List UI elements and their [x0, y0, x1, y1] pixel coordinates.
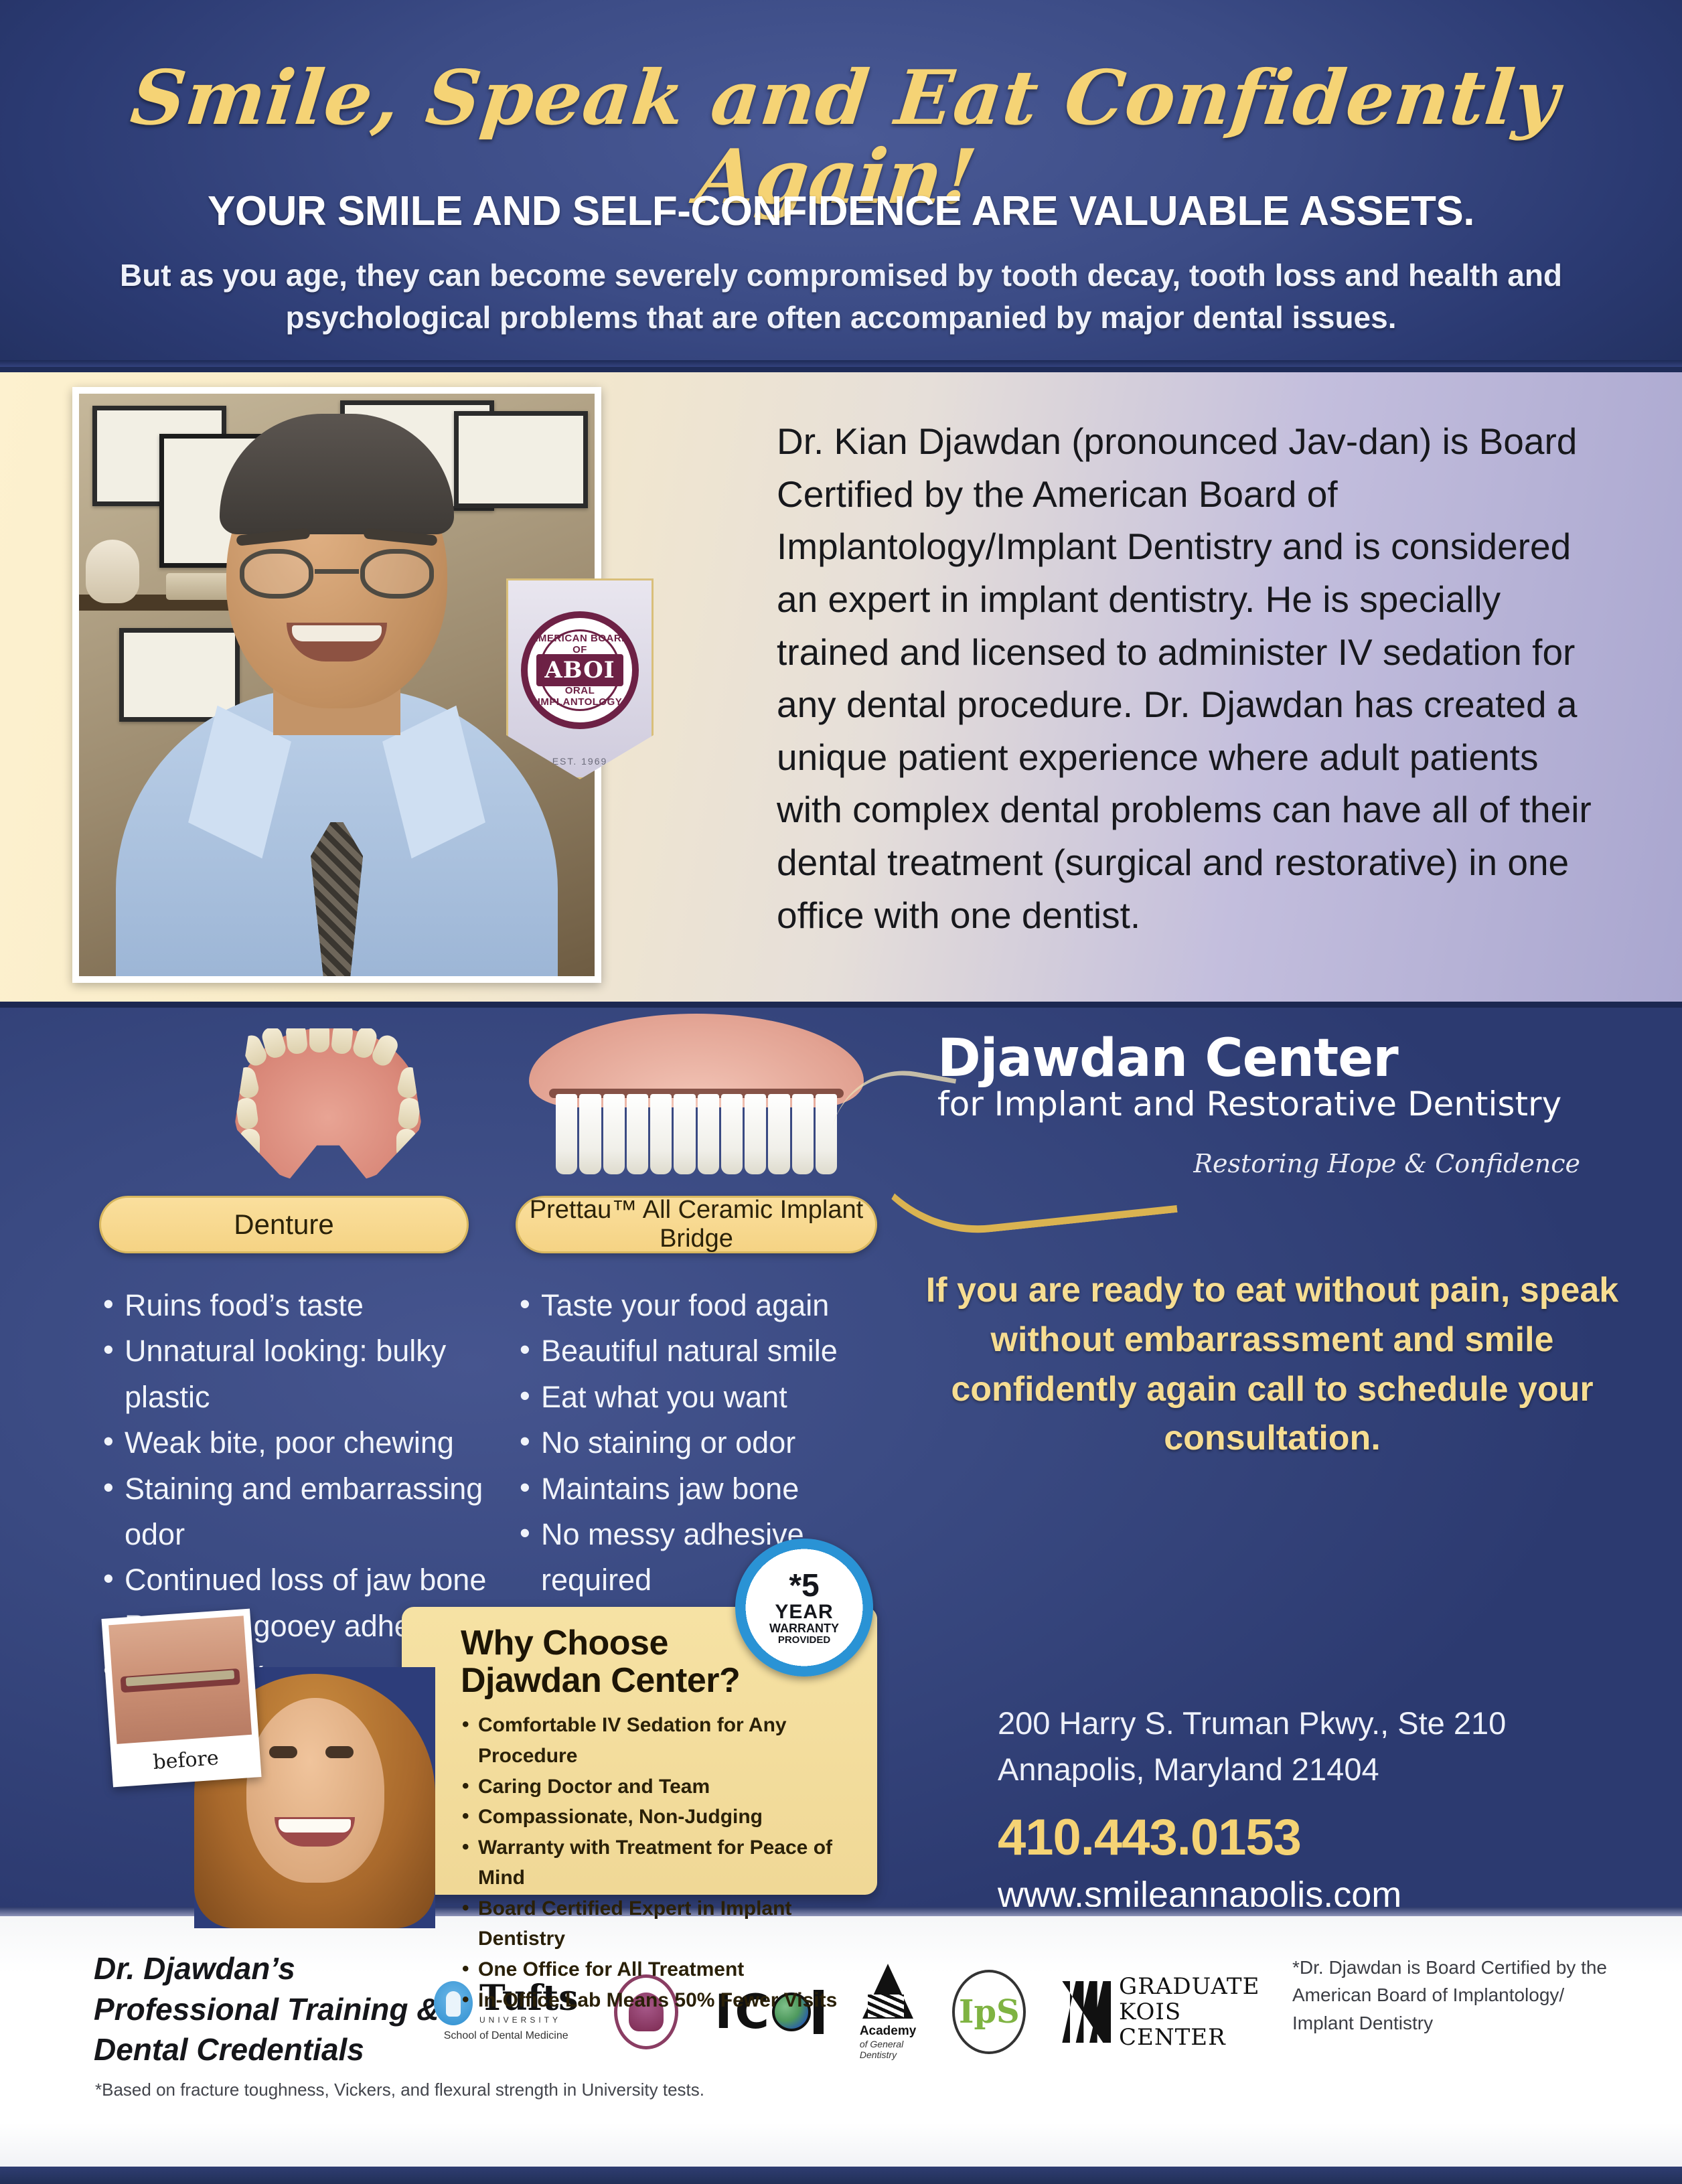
logo-academy-general-dentistry: Academy of General Dentistry: [860, 1964, 917, 2060]
list-item: Eat what you want: [516, 1375, 911, 1420]
address-line-2: Annapolis, Maryland 21404: [998, 1747, 1667, 1793]
warranty-badge: *5 YEAR WARRANTY PROVIDED: [735, 1539, 873, 1676]
denture-title-pill: Denture: [99, 1196, 469, 1253]
list-item: Staining and embarrassing odor: [99, 1466, 487, 1558]
phone-number[interactable]: 410.443.0153: [998, 1810, 1667, 1866]
list-item: Unnatural looking: bulky plastic: [99, 1328, 487, 1420]
doctor-photo-frame: AMERICAN BOARD OF ABOI ORAL IMPLANTOLOGY…: [72, 387, 601, 983]
bridge-title-pill: Prettau™ All Ceramic Implant Bridge: [516, 1196, 877, 1253]
certification-note: *Dr. Djawdan is Board Certified by the A…: [1292, 1954, 1607, 2037]
logo-ips: IpS: [952, 1970, 1026, 2054]
list-item: Board Certified Expert in Implant Dentis…: [461, 1893, 857, 1954]
aboi-seal-inner: AMERICAN BOARD OF ABOI ORAL IMPLANTOLOGY: [528, 618, 632, 722]
call-to-action-text: If you are ready to eat without pain, sp…: [924, 1266, 1620, 1464]
brand-name: Djawdan Center: [937, 1028, 1607, 1089]
fine-print-disclaimer: *Based on fracture toughness, Vickers, a…: [95, 2080, 1166, 2100]
list-item: Compassionate, Non-Judging: [461, 1802, 857, 1832]
denture-image: [234, 1028, 422, 1182]
header-band: Smile, Speak and Eat Confidently Again! …: [0, 0, 1682, 367]
kois-line-1: GRADUATE: [1119, 1973, 1259, 2000]
ips-wordmark: IpS: [952, 1970, 1026, 2054]
warranty-year-label: YEAR: [775, 1602, 833, 1622]
eyeglass-lens-right: [360, 549, 434, 599]
why-choose-title-line2: Djawdan Center?: [461, 1661, 740, 1700]
advertisement-page: Smile, Speak and Eat Confidently Again! …: [0, 0, 1682, 2184]
agd-line-2: of General Dentistry: [860, 2039, 917, 2060]
patient-face: [246, 1698, 384, 1883]
list-item: Continued loss of jaw bone: [99, 1557, 487, 1603]
patient-teeth: [279, 1819, 351, 1832]
eyeglass-bridge: [315, 569, 359, 574]
list-item: Maintains jaw bone: [516, 1466, 911, 1512]
dental-model-icon: [86, 540, 139, 603]
list-item: Ruins food’s taste: [99, 1283, 487, 1328]
credentials-title: Dr. Djawdan’s Professional Training & De…: [94, 1948, 442, 2070]
list-item: Taste your food again: [516, 1283, 911, 1328]
why-choose-list: Comfortable IV Sedation for Any Procedur…: [461, 1710, 857, 2015]
agd-line-1: Academy: [860, 2024, 917, 2039]
address-line-1: 200 Harry S. Truman Pkwy., Ste 210: [998, 1701, 1667, 1747]
list-item: No staining or odor: [516, 1420, 911, 1466]
kois-columns-icon: [1062, 1981, 1111, 2043]
page-subheadline: YOUR SMILE AND SELF-CONFIDENCE ARE VALUA…: [0, 187, 1682, 235]
before-photo-polaroid: before: [101, 1609, 261, 1788]
list-item: One Office for All Treatment: [461, 1954, 857, 1985]
framed-diploma-icon: [454, 411, 588, 508]
aboi-seal-top-text: AMERICAN BOARD OF: [528, 633, 632, 655]
denture-teeth-group: [234, 1028, 422, 1182]
agd-triangle-icon: [860, 1964, 916, 2020]
patient-eye-right: [325, 1746, 354, 1758]
tufts-school-label: School of Dental Medicine: [444, 2029, 568, 2043]
logo-kois-center: GRADUATE KOIS CENTER: [1062, 1974, 1268, 2050]
warranty-number: *5: [789, 1570, 819, 1602]
list-item: In-Office Lab Means 50% Fewer Visits: [461, 1985, 857, 2016]
warranty-badge-core: *5 YEAR WARRANTY PROVIDED: [754, 1557, 854, 1658]
list-item: Warranty with Treatment for Peace of Min…: [461, 1832, 857, 1893]
aboi-seal-bottom-text: ORAL IMPLANTOLOGY: [528, 685, 632, 708]
contact-block: 200 Harry S. Truman Pkwy., Ste 210 Annap…: [998, 1701, 1667, 1922]
doctor-bio-band: AMERICAN BOARD OF ABOI ORAL IMPLANTOLOGY…: [0, 367, 1682, 1002]
warranty-provided-label: PROVIDED: [778, 1635, 830, 1646]
list-item: Weak bite, poor chewing: [99, 1420, 487, 1466]
implant-bridge-image: [529, 1014, 864, 1181]
bridge-teeth-group: [556, 1094, 837, 1174]
aboi-seal-icon: AMERICAN BOARD OF ABOI ORAL IMPLANTOLOGY: [521, 611, 639, 729]
warranty-word-label: WARRANTY: [769, 1622, 839, 1635]
header-blurb: But as you age, they can become severely…: [87, 254, 1595, 338]
denture-acrylic-plate: [234, 1028, 422, 1182]
list-item: Caring Doctor and Team: [461, 1772, 857, 1802]
patient-eye-left: [269, 1746, 297, 1758]
kois-mark: GRADUATE KOIS CENTER: [1062, 1974, 1268, 2050]
doctor-teeth: [292, 625, 382, 641]
kois-line-2: KOIS CENTER: [1119, 1999, 1226, 2051]
why-choose-title-line1: Why Choose: [461, 1624, 668, 1662]
eyeglass-lens-left: [240, 549, 313, 599]
denture-title-label: Denture: [234, 1208, 333, 1240]
eyeglasses-icon: [240, 549, 434, 601]
kois-wordmark: GRADUATE KOIS CENTER: [1119, 1974, 1269, 2050]
list-item: Comfortable IV Sedation for Any Procedur…: [461, 1710, 857, 1771]
doctor-bio-text: Dr. Kian Djawdan (pronounced Jav-dan) is…: [777, 415, 1614, 941]
brand-logo: Djawdan Center for Implant and Restorati…: [937, 1028, 1607, 1202]
before-photo-image: [108, 1616, 252, 1744]
list-item: Beautiful natural smile: [516, 1328, 911, 1374]
bridge-title-label: Prettau™ All Ceramic Implant Bridge: [518, 1196, 875, 1253]
